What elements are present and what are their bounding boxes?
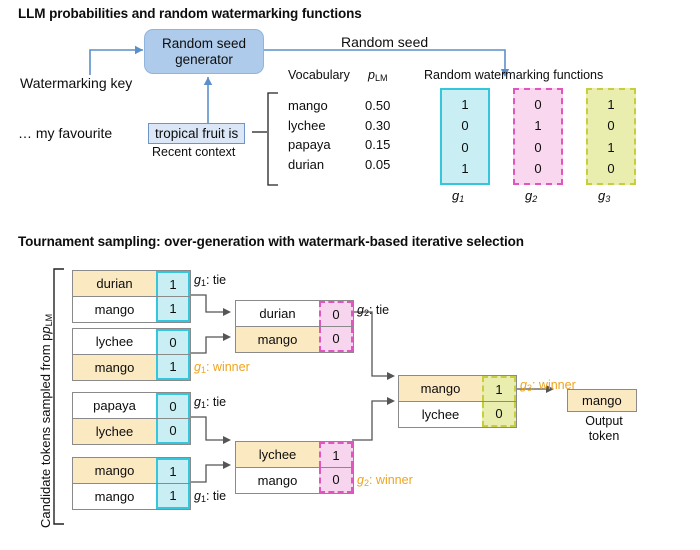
output-caption-line2: token <box>572 429 636 444</box>
candidate-token: durian <box>236 301 319 326</box>
g1-bit: 1 <box>461 97 468 112</box>
note-text: : winner <box>369 473 413 487</box>
g3-bit: 0 <box>607 161 614 176</box>
round2-result-note: g2: winner <box>357 473 413 488</box>
vocab-prob: 0.15 <box>365 135 390 155</box>
round1-pair: durian 1 mango 1 <box>72 270 191 323</box>
g3-bit: 1 <box>607 97 614 112</box>
note-text: : tie <box>369 303 389 317</box>
watermarking-key-label: Watermarking key <box>20 75 132 91</box>
watermark-bit: 0 <box>156 393 190 418</box>
seed-generator-line1: Random seed <box>162 36 246 51</box>
table-row: mango 0 <box>236 467 353 493</box>
note-g: g <box>194 489 201 503</box>
table-row: mango 1 <box>73 483 190 509</box>
round3-pair: mango 1 lychee 0 <box>398 375 517 428</box>
table-row: durian 1 <box>73 271 190 296</box>
output-caption-line1: Output <box>572 414 636 429</box>
note-text: : winner <box>206 360 250 374</box>
g3-bit: 1 <box>607 140 614 155</box>
bottom-section-title: Tournament sampling: over-generation wit… <box>18 234 524 249</box>
recent-context-box: tropical fruit is <box>148 123 245 144</box>
watermark-bit: 0 <box>319 468 353 493</box>
random-seed-label: Random seed <box>341 34 428 50</box>
candidate-token: mango <box>236 468 319 493</box>
plm-header-p: p <box>368 68 375 82</box>
vocab-token: papaya <box>288 135 331 155</box>
g3-bit: 0 <box>607 118 614 133</box>
round1-result-note: g1: winner <box>194 360 250 375</box>
watermark-bit: 1 <box>156 458 190 483</box>
table-row: lychee 0 <box>73 418 190 444</box>
table-row: durian 0 <box>236 301 353 326</box>
candidate-token: mango <box>399 376 482 401</box>
note-text: : tie <box>206 489 226 503</box>
table-row: mango 1 <box>399 376 516 401</box>
watermark-bit: 0 <box>156 329 190 354</box>
output-token-box: mango <box>567 389 637 412</box>
note-g: g <box>357 473 364 487</box>
watermark-function-column-g3: 1 0 1 0 <box>586 88 636 185</box>
g1-sub: 1 <box>459 194 464 204</box>
watermark-bit: 0 <box>482 402 516 427</box>
watermark-bit: 1 <box>156 271 190 296</box>
round2-pair: lychee 1 mango 0 <box>235 441 354 494</box>
watermark-bit: 1 <box>319 442 353 467</box>
seed-generator-line2: generator <box>175 52 233 67</box>
vocab-prob: 0.50 <box>365 96 390 116</box>
candidate-token: durian <box>73 271 156 296</box>
round1-result-note: g1: tie <box>194 395 226 410</box>
table-row: mango 0 <box>236 326 353 352</box>
g2-bit: 0 <box>534 140 541 155</box>
round1-pair: papaya 0 lychee 0 <box>72 392 191 445</box>
vocab-token: durian <box>288 155 331 175</box>
candidate-token: mango <box>73 355 156 380</box>
candidate-token: lychee <box>399 402 482 427</box>
g2-bit: 1 <box>534 118 541 133</box>
g2-sub: 2 <box>532 194 537 204</box>
round2-pair: durian 0 mango 0 <box>235 300 354 353</box>
round1-pair: lychee 0 mango 1 <box>72 328 191 381</box>
note-text: : tie <box>206 395 226 409</box>
watermark-bit: 1 <box>156 484 190 509</box>
vocabulary-header: Vocabulary <box>288 68 350 82</box>
g3-sub: 3 <box>605 194 610 204</box>
g2-bit: 0 <box>534 161 541 176</box>
g2-name-label: g2 <box>525 188 537 204</box>
g1-bit: 0 <box>461 140 468 155</box>
note-g: g <box>520 378 527 392</box>
g1-bit: 1 <box>461 161 468 176</box>
round2-result-note: g2: tie <box>357 303 389 318</box>
vocab-prob: 0.05 <box>365 155 390 175</box>
watermark-bit: 0 <box>319 327 353 352</box>
watermark-bit: 1 <box>156 297 190 322</box>
round1-pair: mango 1 mango 1 <box>72 457 191 510</box>
candidate-token: mango <box>73 458 156 483</box>
watermark-function-column-g2: 0 1 0 0 <box>513 88 563 185</box>
watermark-bit: 1 <box>156 355 190 380</box>
watermark-function-column-g1: 1 0 0 1 <box>440 88 490 185</box>
table-row: papaya 0 <box>73 393 190 418</box>
table-row: mango 1 <box>73 296 190 322</box>
table-row: lychee 0 <box>399 401 516 427</box>
watermark-bit: 0 <box>319 301 353 326</box>
candidate-token: lychee <box>73 329 156 354</box>
candidate-token: mango <box>73 484 156 509</box>
watermark-bit: 1 <box>482 376 516 401</box>
vocab-token: mango <box>288 96 331 116</box>
table-row: mango 1 <box>73 354 190 380</box>
table-row: lychee 1 <box>236 442 353 467</box>
note-text: : tie <box>206 273 226 287</box>
candidate-token: lychee <box>73 419 156 444</box>
watermark-bit: 0 <box>156 419 190 444</box>
prompt-prefix-label: … my favourite <box>18 125 112 141</box>
vocabulary-token-list: mango lychee papaya durian <box>288 96 331 174</box>
g3-name-label: g3 <box>598 188 610 204</box>
table-row: mango 1 <box>73 458 190 483</box>
note-g: g <box>194 360 201 374</box>
g1-name-label: g1 <box>452 188 464 204</box>
recent-context-caption: Recent context <box>152 145 235 159</box>
output-token-caption: Output token <box>572 414 636 444</box>
g2-bit: 0 <box>534 97 541 112</box>
table-row: lychee 0 <box>73 329 190 354</box>
vocab-token: lychee <box>288 116 331 136</box>
note-g: g <box>357 303 364 317</box>
note-g: g <box>194 273 201 287</box>
round1-result-note: g1: tie <box>194 273 226 288</box>
g1-bit: 0 <box>461 118 468 133</box>
plm-header: pLM <box>368 68 387 83</box>
watermarking-functions-header: Random watermarking functions <box>424 68 603 82</box>
candidate-token: lychee <box>236 442 319 467</box>
round1-result-note: g1: tie <box>194 489 226 504</box>
random-seed-generator-box: Random seed generator <box>144 29 264 74</box>
candidate-token: mango <box>73 297 156 322</box>
candidate-token: papaya <box>73 393 156 418</box>
candidate-token: mango <box>236 327 319 352</box>
vocab-prob: 0.30 <box>365 116 390 136</box>
note-g: g <box>194 395 201 409</box>
vocabulary-probability-list: 0.50 0.30 0.15 0.05 <box>365 96 390 174</box>
plm-header-sub: LM <box>375 73 388 83</box>
